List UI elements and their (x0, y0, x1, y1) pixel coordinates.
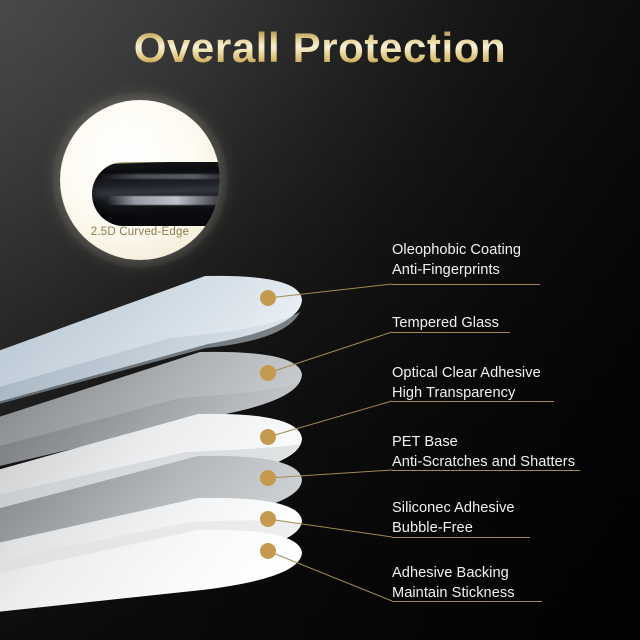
callout-label-line1: Siliconec Adhesive (392, 500, 515, 516)
callout-dot-adhesive-backing (260, 543, 276, 559)
callout-siliconec-adhesive: Siliconec AdhesiveBubble-Free (392, 499, 515, 538)
callout-label-line1: Optical Clear Adhesive (392, 365, 541, 381)
callout-label-line1: Tempered Glass (392, 315, 499, 331)
callout-rule-siliconec-adhesive (392, 537, 530, 538)
callout-rule-tempered-glass (392, 332, 510, 333)
screen-protector-layer-stack (0, 0, 640, 640)
callout-dot-oleophobic-coating (260, 290, 276, 306)
callout-label-line1: Adhesive Backing (392, 565, 509, 581)
callout-rule-optical-clear-adhesive (392, 401, 554, 402)
infographic-canvas: Overall Protection 2.5D Curved-Edge Oleo… (0, 0, 640, 640)
callout-tempered-glass: Tempered Glass (392, 314, 499, 334)
callout-rule-pet-base (392, 470, 580, 471)
callout-label-line2: Bubble-Free (392, 519, 515, 539)
callout-rule-oleophobic-coating (392, 284, 540, 285)
callout-label-line1: Oleophobic Coating (392, 242, 521, 258)
phone-edge-highlight-upper (100, 174, 220, 179)
magnifier-caption: 2.5D Curved-Edge (60, 226, 220, 238)
callout-optical-clear-adhesive: Optical Clear AdhesiveHigh Transparency (392, 364, 541, 403)
callout-rule-adhesive-backing (392, 601, 542, 602)
callout-label-line2: Anti-Fingerprints (392, 261, 521, 281)
leader-line-tempered-glass (268, 332, 392, 373)
phone-curved-edge-icon (92, 162, 220, 226)
callout-pet-base: PET BaseAnti-Scratches and Shatters (392, 433, 575, 472)
callout-label-line1: PET Base (392, 434, 458, 450)
phone-edge-highlight (106, 196, 220, 205)
callout-dot-optical-clear-adhesive (260, 429, 276, 445)
callout-dot-siliconec-adhesive (260, 511, 276, 527)
callout-dot-tempered-glass (260, 365, 276, 381)
callout-adhesive-backing: Adhesive BackingMaintain Stickness (392, 564, 515, 603)
leader-line-optical-clear-adhesive (268, 401, 392, 437)
magnifier-circle: 2.5D Curved-Edge (60, 100, 220, 260)
page-title: Overall Protection (0, 24, 640, 71)
callout-oleophobic-coating: Oleophobic CoatingAnti-Fingerprints (392, 241, 521, 280)
leader-line-adhesive-backing (268, 551, 392, 601)
callout-dot-pet-base (260, 470, 276, 486)
